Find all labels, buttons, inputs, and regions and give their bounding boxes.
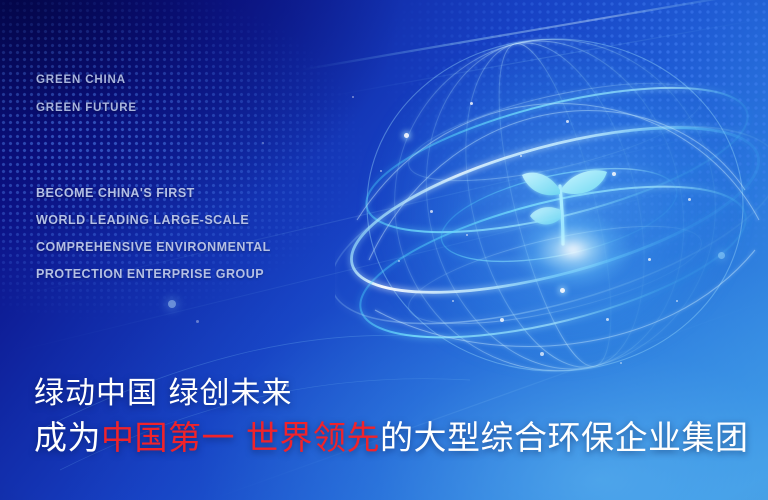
headline-line-1: 绿动中国 绿创未来 (34, 368, 293, 412)
mission-line-1: BECOME CHINA'S FIRST (36, 186, 195, 200)
eyebrow-line-2: GREEN FUTURE (36, 102, 137, 114)
eyebrow-line-1: GREEN CHINA (36, 74, 126, 86)
mission-line-4: PROTECTION ENTERPRISE GROUP (36, 267, 264, 281)
headline-line-2: 成为中国第一 世界领先的大型综合环保企业集团 (34, 411, 749, 459)
headline-prefix: 成为 (34, 418, 101, 457)
headline-suffix: 的大型综合环保企业集团 (380, 418, 749, 457)
headline-highlight: 中国第一 世界领先 (101, 418, 380, 457)
mission-line-3: COMPREHENSIVE ENVIRONMENTAL (36, 240, 271, 254)
green-china-hero-banner: GREEN CHINA GREEN FUTURE BECOME CHINA'S … (0, 0, 768, 500)
mission-line-2: WORLD LEADING LARGE-SCALE (36, 213, 249, 227)
